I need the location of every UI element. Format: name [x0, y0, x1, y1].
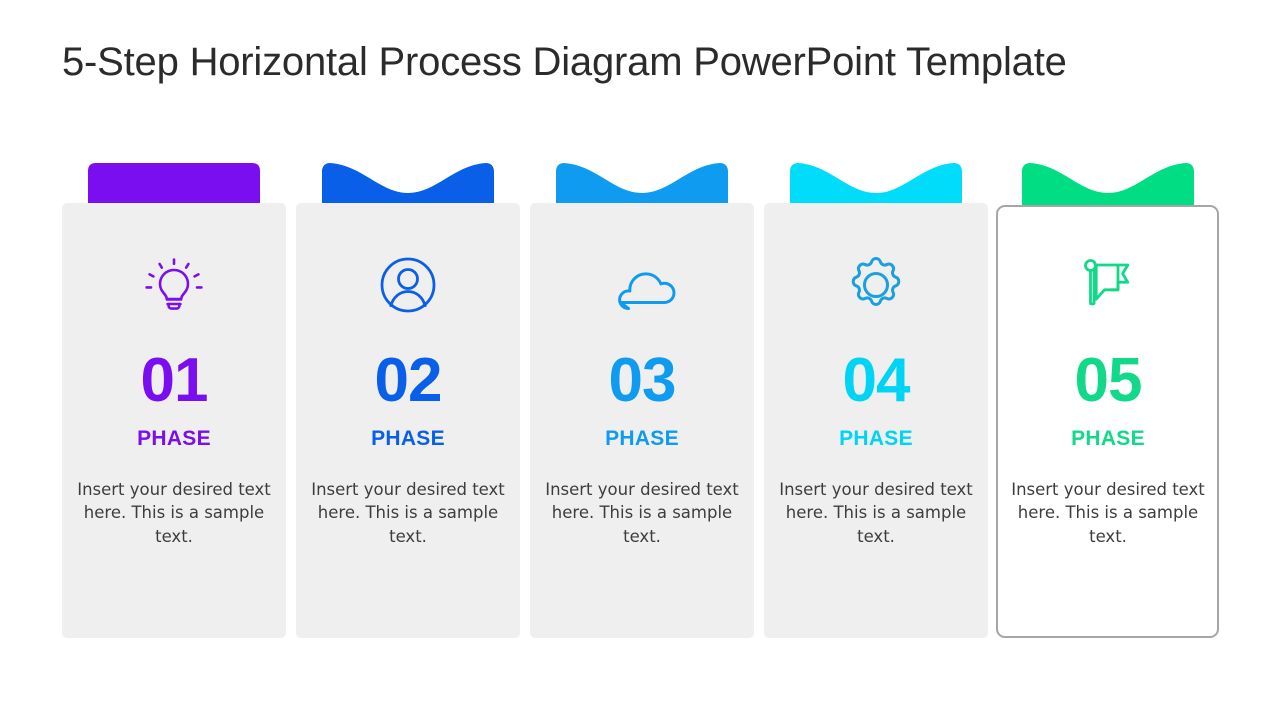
- process-step-03[interactable]: 03 PHASE Insert your desired text here. …: [530, 160, 754, 640]
- step-number-03: 03: [530, 350, 754, 412]
- slide-canvas: 5-Step Horizontal Process Diagram PowerP…: [0, 0, 1280, 720]
- lightbulb-icon: [62, 250, 286, 320]
- process-step-05[interactable]: 05 PHASE Insert your desired text here. …: [1008, 160, 1232, 640]
- step-description-05[interactable]: Insert your desired text here. This is a…: [1010, 478, 1206, 548]
- step-number-01: 01: [62, 350, 286, 412]
- flag-icon: [996, 250, 1220, 320]
- process-step-02[interactable]: 02 PHASE Insert your desired text here. …: [296, 160, 520, 640]
- step-description-03[interactable]: Insert your desired text here. This is a…: [544, 478, 740, 548]
- step-phase-label-01: PHASE: [62, 427, 286, 451]
- process-step-04[interactable]: 04 PHASE Insert your desired text here. …: [764, 160, 988, 640]
- process-step-01[interactable]: 01 PHASE Insert your desired text here. …: [62, 160, 286, 640]
- gear-icon: [764, 250, 988, 320]
- step-phase-label-05: PHASE: [996, 427, 1220, 451]
- page-title: 5-Step Horizontal Process Diagram PowerP…: [62, 40, 1067, 85]
- cloud-icon: [530, 250, 754, 320]
- step-description-04[interactable]: Insert your desired text here. This is a…: [778, 478, 974, 548]
- step-number-04: 04: [764, 350, 988, 412]
- user-circle-icon: [296, 250, 520, 320]
- step-number-05: 05: [996, 350, 1220, 412]
- step-description-02[interactable]: Insert your desired text here. This is a…: [310, 478, 506, 548]
- step-phase-label-03: PHASE: [530, 427, 754, 451]
- step-number-02: 02: [296, 350, 520, 412]
- step-phase-label-02: PHASE: [296, 427, 520, 451]
- step-description-01[interactable]: Insert your desired text here. This is a…: [76, 478, 272, 548]
- step-phase-label-04: PHASE: [764, 427, 988, 451]
